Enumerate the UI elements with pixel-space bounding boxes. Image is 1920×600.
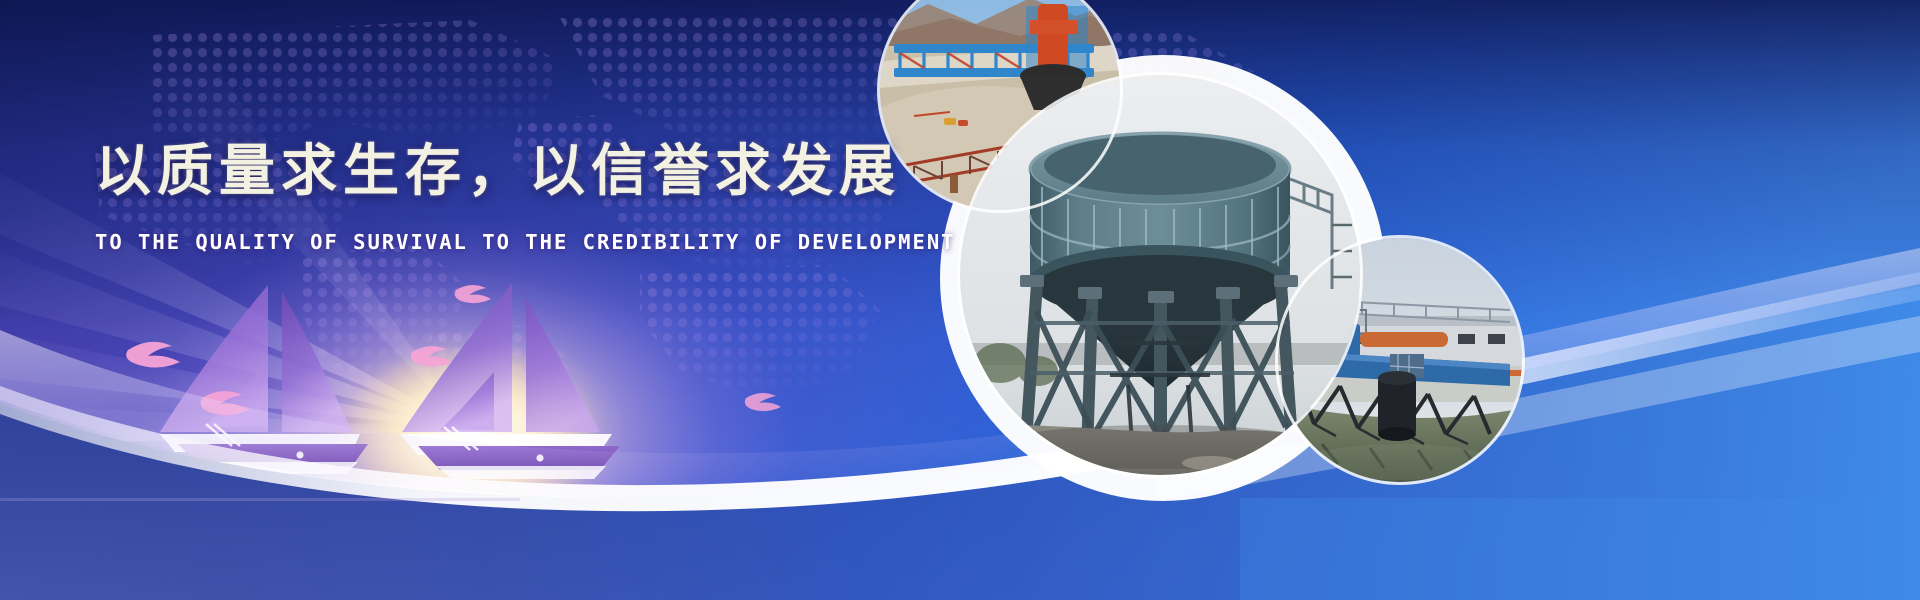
subhead-english: TO THE QUALITY OF SURVIVAL TO THE CREDIB… — [95, 230, 915, 254]
headline-chinese: 以质量求生存，以信誉求发展 — [95, 140, 915, 204]
slogan-block: 以质量求生存，以信誉求发展 TO THE QUALITY OF SURVIVAL… — [95, 140, 915, 254]
photo-elevated-storage-tank[interactable] — [960, 75, 1360, 475]
hero-banner: 以质量求生存，以信誉求发展 TO THE QUALITY OF SURVIVAL… — [0, 0, 1920, 600]
